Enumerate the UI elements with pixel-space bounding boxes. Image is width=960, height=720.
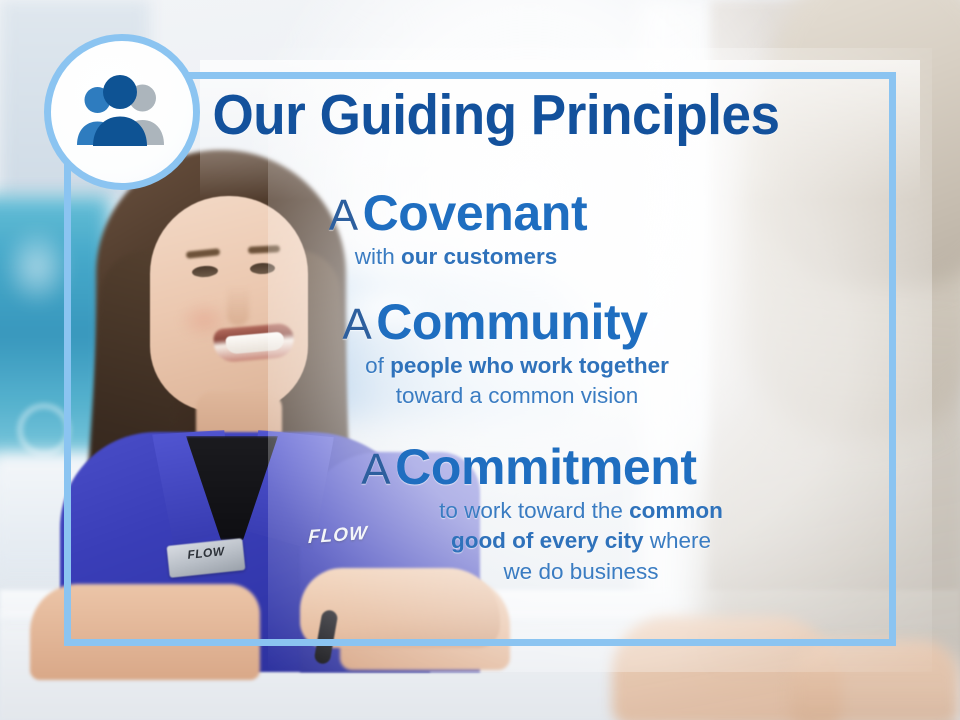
principle-subtext: of people who work togethertoward a comm… xyxy=(120,351,870,412)
principle-heading: A Covenant xyxy=(120,184,796,242)
principle-subtext: to work toward the commongood of every c… xyxy=(178,496,880,588)
principle-commitment: A Commitment to work toward the commongo… xyxy=(120,438,880,588)
customer-hand-second xyxy=(790,640,960,720)
guiding-principles-graphic: FLOW FLOW Our Guiding Principl xyxy=(0,0,960,720)
principle-covenant: A Covenant with our customers xyxy=(120,184,880,273)
page-title: Our Guiding Principles xyxy=(146,86,845,146)
headline-block: Our Guiding Principles xyxy=(120,86,872,146)
principle-subtext: with our customers xyxy=(120,242,796,273)
principle-heading: A Commitment xyxy=(178,438,880,496)
background-car-logo-icon xyxy=(18,404,70,456)
principle-article: A xyxy=(342,300,371,349)
employee-arm-left xyxy=(30,584,260,680)
principle-community: A Community of people who work togethert… xyxy=(120,293,880,412)
principle-article: A xyxy=(361,445,390,494)
principle-article: A xyxy=(329,191,358,240)
principles-list: A Covenant with our customers A Communit… xyxy=(120,184,880,594)
principle-heading: A Community xyxy=(120,293,870,351)
principle-keyword: Commitment xyxy=(395,439,697,495)
principle-keyword: Community xyxy=(376,294,647,350)
background-display-glow xyxy=(2,226,72,308)
principle-keyword: Covenant xyxy=(363,185,588,241)
